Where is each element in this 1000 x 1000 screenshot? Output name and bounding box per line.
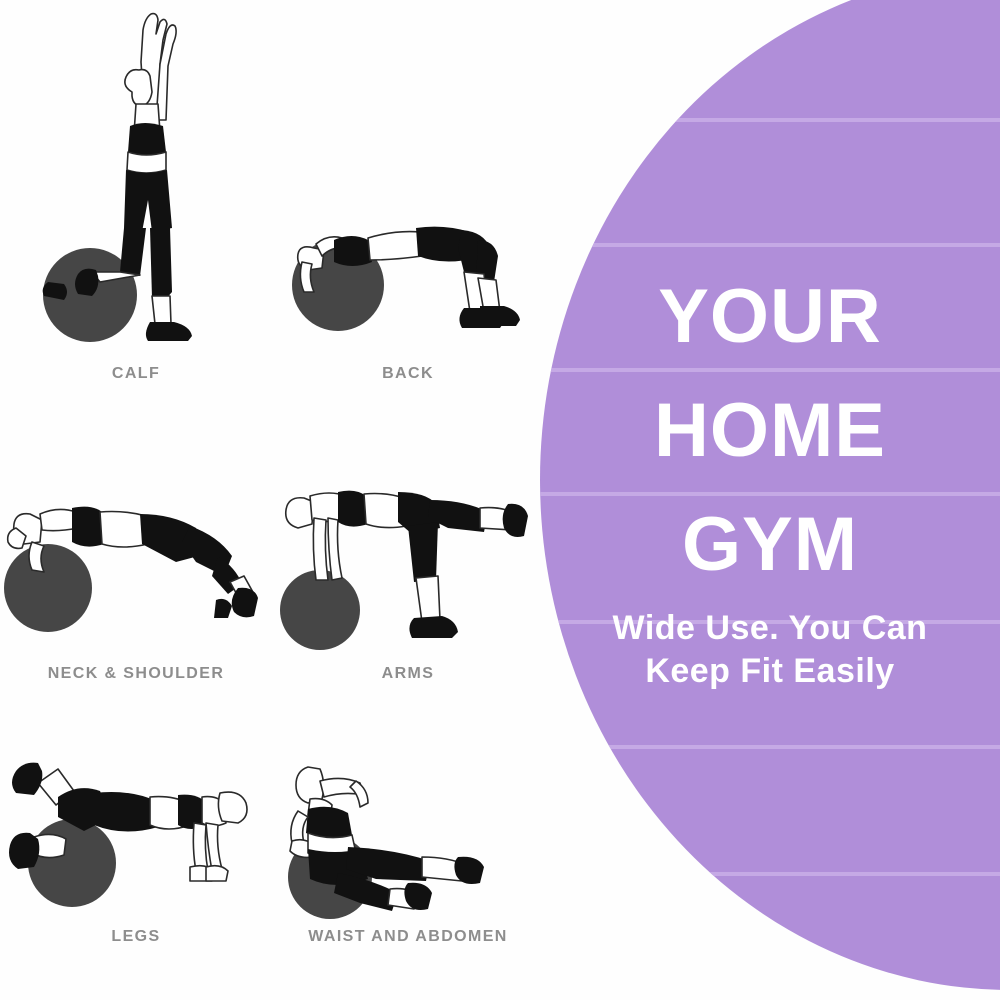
exercise-back-bridge-icon — [272, 0, 544, 390]
exercise-label-waist-abdomen: WAIST AND ABDOMEN — [272, 928, 544, 946]
exercise-cell-waist-abdomen: WAIST AND ABDOMEN — [272, 745, 544, 955]
exercise-cell-neck-shoulder: NECK & SHOULDER — [0, 470, 272, 685]
exercise-cell-calf: CALF — [0, 0, 272, 390]
promo-panel — [540, 0, 1000, 990]
panel-stripe — [540, 620, 1000, 624]
exercise-cell-back: BACK — [272, 0, 544, 390]
exercise-cell-arms: ARMS — [272, 470, 544, 685]
exercise-legs-plank-icon — [0, 745, 272, 955]
panel-stripe — [540, 368, 1000, 372]
exercise-grid: CALF — [0, 0, 545, 1000]
exercise-neck-shoulder-plank-icon — [0, 470, 272, 685]
exercise-arms-leg-raise-icon — [272, 470, 544, 685]
exercise-label-arms: ARMS — [272, 665, 544, 683]
exercise-label-neck-shoulder: NECK & SHOULDER — [0, 665, 272, 683]
panel-stripe — [540, 872, 1000, 876]
exercise-label-back: BACK — [272, 365, 544, 383]
panel-stripe — [540, 243, 1000, 247]
exercise-ball-poster: YOUR HOME GYM Wide Use. You Can Keep Fit… — [0, 0, 1000, 1000]
exercise-calf-raise-icon — [0, 0, 272, 390]
panel-stripe — [540, 118, 1000, 122]
exercise-label-legs: LEGS — [0, 928, 272, 946]
exercise-waist-abdomen-icon — [272, 745, 544, 955]
exercise-cell-legs: LEGS — [0, 745, 272, 955]
panel-stripe — [540, 492, 1000, 496]
panel-stripe — [540, 745, 1000, 749]
exercise-label-calf: CALF — [0, 365, 272, 383]
